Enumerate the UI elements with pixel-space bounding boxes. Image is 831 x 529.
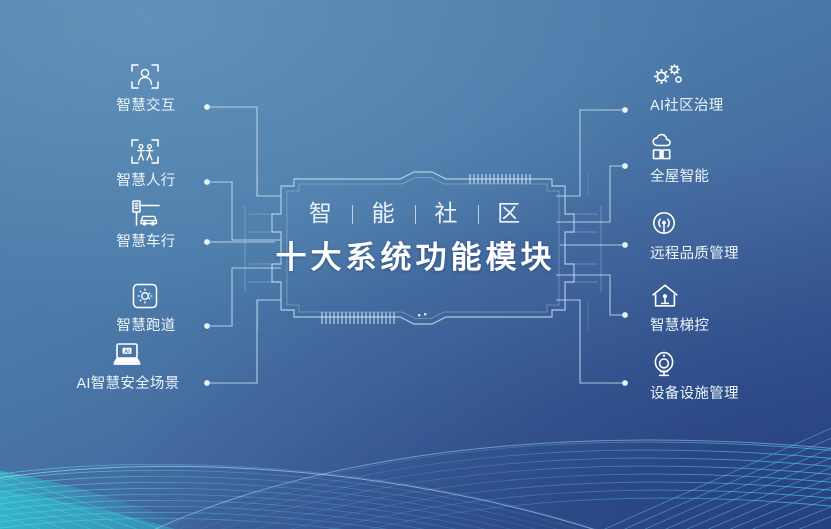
face-recognition-icon	[129, 62, 161, 92]
gear-track-icon	[129, 282, 161, 312]
module-label: 智慧人行	[116, 174, 175, 189]
module-ai-security-scene[interactable]: AI AI智慧安全场景	[60, 340, 196, 392]
vehicle-barrier-icon	[128, 198, 162, 228]
kicker-separator	[415, 205, 416, 224]
kicker-char-2: 社	[433, 202, 460, 225]
module-label: 智慧梯控	[650, 319, 709, 334]
module-smart-elevator-control[interactable]: 智慧梯控	[650, 282, 709, 334]
pedestrian-recognition-icon	[129, 137, 161, 167]
module-label: 远程品质管理	[650, 247, 739, 262]
ai-laptop-icon: AI	[110, 340, 144, 370]
signal-broadcast-icon	[650, 210, 682, 240]
module-smart-pedestrian[interactable]: 智慧人行	[96, 137, 196, 189]
module-label: 智慧跑道	[116, 319, 175, 334]
kicker-char-1: 能	[371, 202, 398, 225]
gears-icon	[650, 62, 686, 92]
house-elevator-icon	[650, 282, 682, 312]
module-label: 全屋智能	[650, 170, 709, 185]
module-whole-house-smart[interactable]: 全屋智能	[650, 133, 709, 185]
module-smart-interaction[interactable]: 智慧交互	[96, 62, 196, 114]
module-smart-track[interactable]: 智慧跑道	[96, 282, 196, 334]
module-remote-quality-management[interactable]: 远程品质管理	[650, 210, 739, 262]
module-label: 智慧车行	[116, 235, 175, 250]
module-facility-management[interactable]: 设备设施管理	[650, 350, 739, 402]
module-ai-community-governance[interactable]: AI社区治理	[650, 62, 724, 114]
kicker-separator	[478, 205, 479, 224]
module-smart-vehicle[interactable]: 智慧车行	[96, 198, 196, 250]
kicker-char-3: 区	[496, 202, 523, 225]
camera-dome-icon	[650, 350, 682, 380]
smart-community-infographic: 智 能 社 区 十大系统功能模块 智慧交互	[0, 0, 831, 529]
module-label: 智慧交互	[116, 99, 175, 114]
module-label: 设备设施管理	[650, 387, 739, 402]
module-label: AI智慧安全场景	[76, 377, 179, 392]
kicker-char-0: 智	[308, 202, 335, 225]
svg-text:AI: AI	[124, 349, 130, 355]
cloud-home-icon	[650, 133, 684, 163]
center-kicker: 智 能 社 区	[308, 202, 523, 225]
module-label: AI社区治理	[650, 99, 724, 114]
kicker-separator	[352, 205, 353, 224]
